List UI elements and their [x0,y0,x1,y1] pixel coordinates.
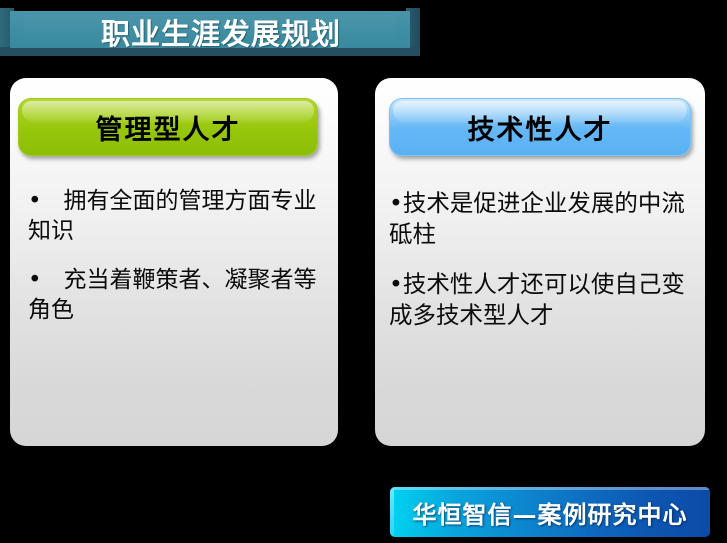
footer-branding-bar: 华恒智信—案例研究中心 [390,487,710,537]
panel-header-management-talent[interactable]: 管理型人才 [18,98,318,156]
panel-technical-talent: 技术性人才 •技术是促进企业发展的中流砥柱 •技术性人才还可以使自己变成多技术型… [375,78,705,446]
list-item: • 充当着鞭策者、凝聚者等角色 [28,265,324,326]
slide-title-banner: 职业生涯发展规划 [0,8,420,56]
bullet-list-management: • 拥有全面的管理方面专业知识 • 充当着鞭策者、凝聚者等角色 [28,186,324,343]
panel-header-label-management: 管理型人才 [19,99,317,155]
panel-header-label-technical: 技术性人才 [390,99,690,155]
slide-canvas: { "slide": { "title": "职业生涯发展规划", "foote… [0,0,727,543]
list-item: •技术是促进企业发展的中流砥柱 [389,188,695,249]
footer-branding-text: 华恒智信—案例研究中心 [390,487,710,537]
panel-header-technical-talent[interactable]: 技术性人才 [389,98,691,156]
panel-management-talent: 管理型人才 • 拥有全面的管理方面专业知识 • 充当着鞭策者、凝聚者等角色 [10,78,338,446]
list-item: • 拥有全面的管理方面专业知识 [28,186,324,247]
bullet-list-technical: •技术是促进企业发展的中流砥柱 •技术性人才还可以使自己变成多技术型人才 [389,188,695,350]
slide-title: 职业生涯发展规划 [0,8,420,56]
list-item: •技术性人才还可以使自己变成多技术型人才 [389,269,695,330]
